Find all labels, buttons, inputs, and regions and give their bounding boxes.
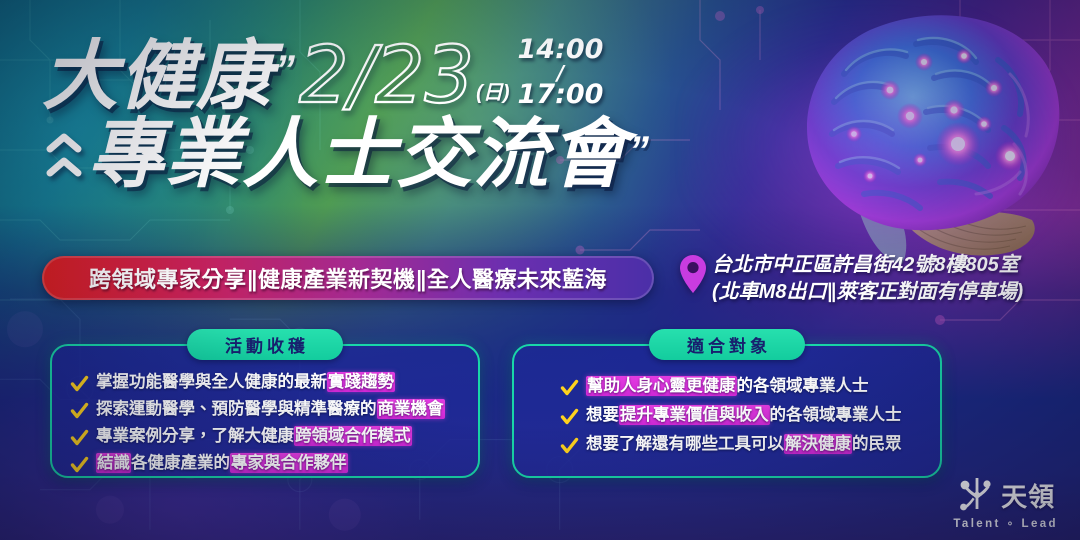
vignette-overlay <box>0 0 1080 540</box>
event-banner: 大健康 ” 2/23 (日) 14:00 / 17:00 專業人士交流會 ” 跨… <box>0 0 1080 540</box>
